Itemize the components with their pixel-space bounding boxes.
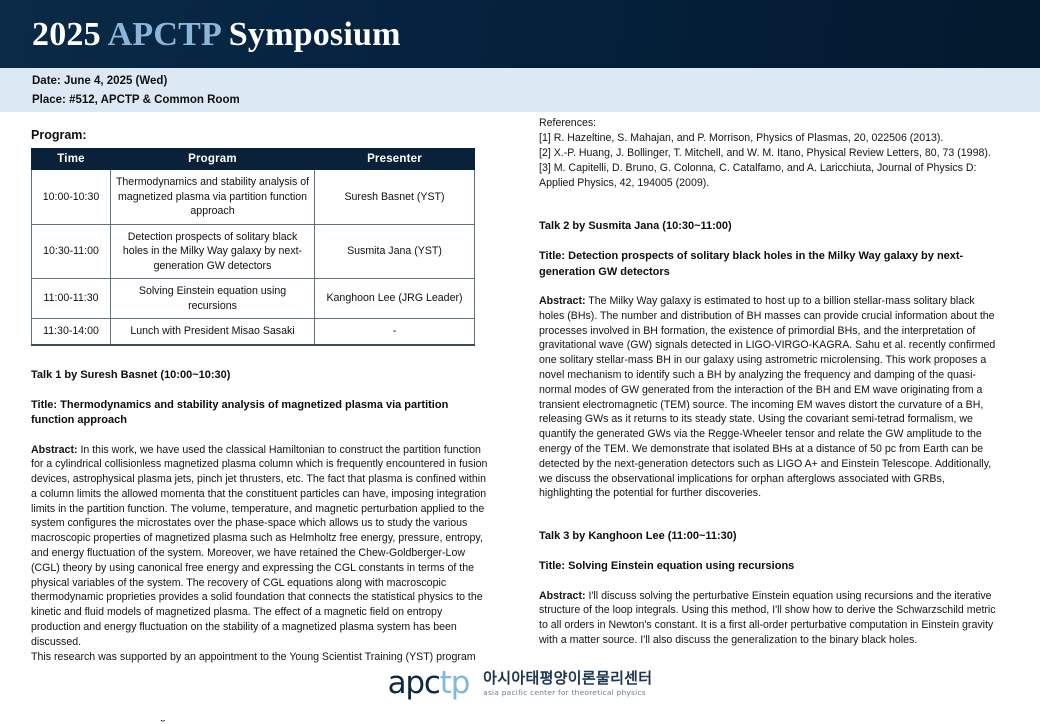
apctp-logo-icon: apctp <box>388 668 470 698</box>
reference-item: [2] X.-P. Huang, J. Bollinger, T. Mitche… <box>539 146 1001 161</box>
talk3-heading: Talk 3 by Kanghoon Lee (11:00~11:30) <box>539 529 1001 544</box>
talk1-title: Title: Thermodynamics and stability anal… <box>31 398 491 429</box>
column-header-presenter: Presenter <box>315 149 475 170</box>
column-header-time: Time <box>32 149 111 170</box>
table-row: 11:00-11:30 Solving Einstein equation us… <box>32 279 475 319</box>
talk3-abstract-label: Abstract: <box>539 590 586 602</box>
cell-presenter: - <box>315 319 475 345</box>
reference-item: [3] M. Capitelli, D. Bruno, G. Colonna, … <box>539 161 1001 191</box>
cell-time: 11:30-14:00 <box>32 319 111 345</box>
page-header: 2025 APCTP Symposium <box>0 0 1040 68</box>
program-table: Time Program Presenter 10:00-10:30 Therm… <box>31 148 475 346</box>
talk1-abstract-label: Abstract: <box>31 444 78 456</box>
column-header-program: Program <box>111 149 315 170</box>
cell-program: Detection prospects of solitary black ho… <box>111 224 315 279</box>
cell-program: Thermodynamics and stability analysis of… <box>111 170 315 225</box>
references-label: References: <box>539 116 1001 131</box>
program-label: Program: <box>31 128 491 142</box>
apctp-logo-dark-text: apc <box>388 665 440 701</box>
cell-presenter: Suresh Basnet (YST) <box>315 170 475 225</box>
talk3-abstract-text: I'll discuss solving the perturbative Ei… <box>539 590 996 646</box>
cell-presenter: Susmita Jana (YST) <box>315 224 475 279</box>
apctp-name-english: asia pacific center for theoretical phys… <box>483 688 652 698</box>
table-header-row: Time Program Presenter <box>32 149 475 170</box>
talk1-heading: Talk 1 by Suresh Basnet (10:00~10:30) <box>31 368 491 383</box>
talk2-heading: Talk 2 by Susmita Jana (10:30~11:00) <box>539 219 1001 234</box>
talk2-abstract-label: Abstract: <box>539 295 586 307</box>
event-date: Date: June 4, 2025 (Wed) <box>32 72 1040 91</box>
left-column: Program: Time Program Presenter 10:00-10… <box>31 128 491 724</box>
cell-time: 10:30-11:00 <box>32 224 111 279</box>
cell-time: 10:00-10:30 <box>32 170 111 225</box>
table-row: 10:00-10:30 Thermodynamics and stability… <box>32 170 475 225</box>
apctp-name-korean: 아시아태평양이론물리센터 <box>483 670 652 687</box>
talk2-title: Title: Detection prospects of solitary b… <box>539 249 1001 280</box>
talk1-abstract: Abstract: In this work, we have used the… <box>31 443 491 650</box>
references-block: References: [1] R. Hazeltine, S. Mahajan… <box>539 116 1001 191</box>
table-row: 10:30-11:00 Detection prospects of solit… <box>32 224 475 279</box>
talk1-abstract-text: In this work, we have used the classical… <box>31 444 487 648</box>
talk3-title: Title: Solving Einstein equation using r… <box>539 559 1001 575</box>
page-title-event: Symposium <box>229 16 401 53</box>
cell-time: 11:00-11:30 <box>32 279 111 319</box>
right-column: References: [1] R. Hazeltine, S. Mahajan… <box>539 116 1001 648</box>
page-footer: apctp 아시아태평양이론물리센터 asia pacific center f… <box>0 664 1040 720</box>
event-place: Place: #512, APCTP & Common Room <box>32 91 1040 110</box>
talk3-abstract: Abstract: I'll discuss solving the pertu… <box>539 589 1001 648</box>
page-title-year: 2025 <box>32 16 101 53</box>
apctp-logo-light-text: tp <box>440 665 469 701</box>
document-body: Program: Time Program Presenter 10:00-10… <box>0 112 1040 720</box>
event-info-band: Date: June 4, 2025 (Wed) Place: #512, AP… <box>0 68 1040 112</box>
page-title: 2025 APCTP Symposium <box>0 18 401 52</box>
cell-presenter: Kanghoon Lee (JRG Leader) <box>315 279 475 319</box>
page-title-org: APCTP <box>108 16 220 53</box>
table-row: 11:30-14:00 Lunch with President Misao S… <box>32 319 475 345</box>
apctp-logo-text-block: 아시아태평양이론물리센터 asia pacific center for the… <box>483 670 652 698</box>
talk2-abstract: Abstract: The Milky Way galaxy is estima… <box>539 294 1001 501</box>
talk2-abstract-text: The Milky Way galaxy is estimated to hos… <box>539 295 995 499</box>
reference-item: [1] R. Hazeltine, S. Mahajan, and P. Mor… <box>539 131 1001 146</box>
cell-program: Solving Einstein equation using recursio… <box>111 279 315 319</box>
cell-program: Lunch with President Misao Sasaki <box>111 319 315 345</box>
